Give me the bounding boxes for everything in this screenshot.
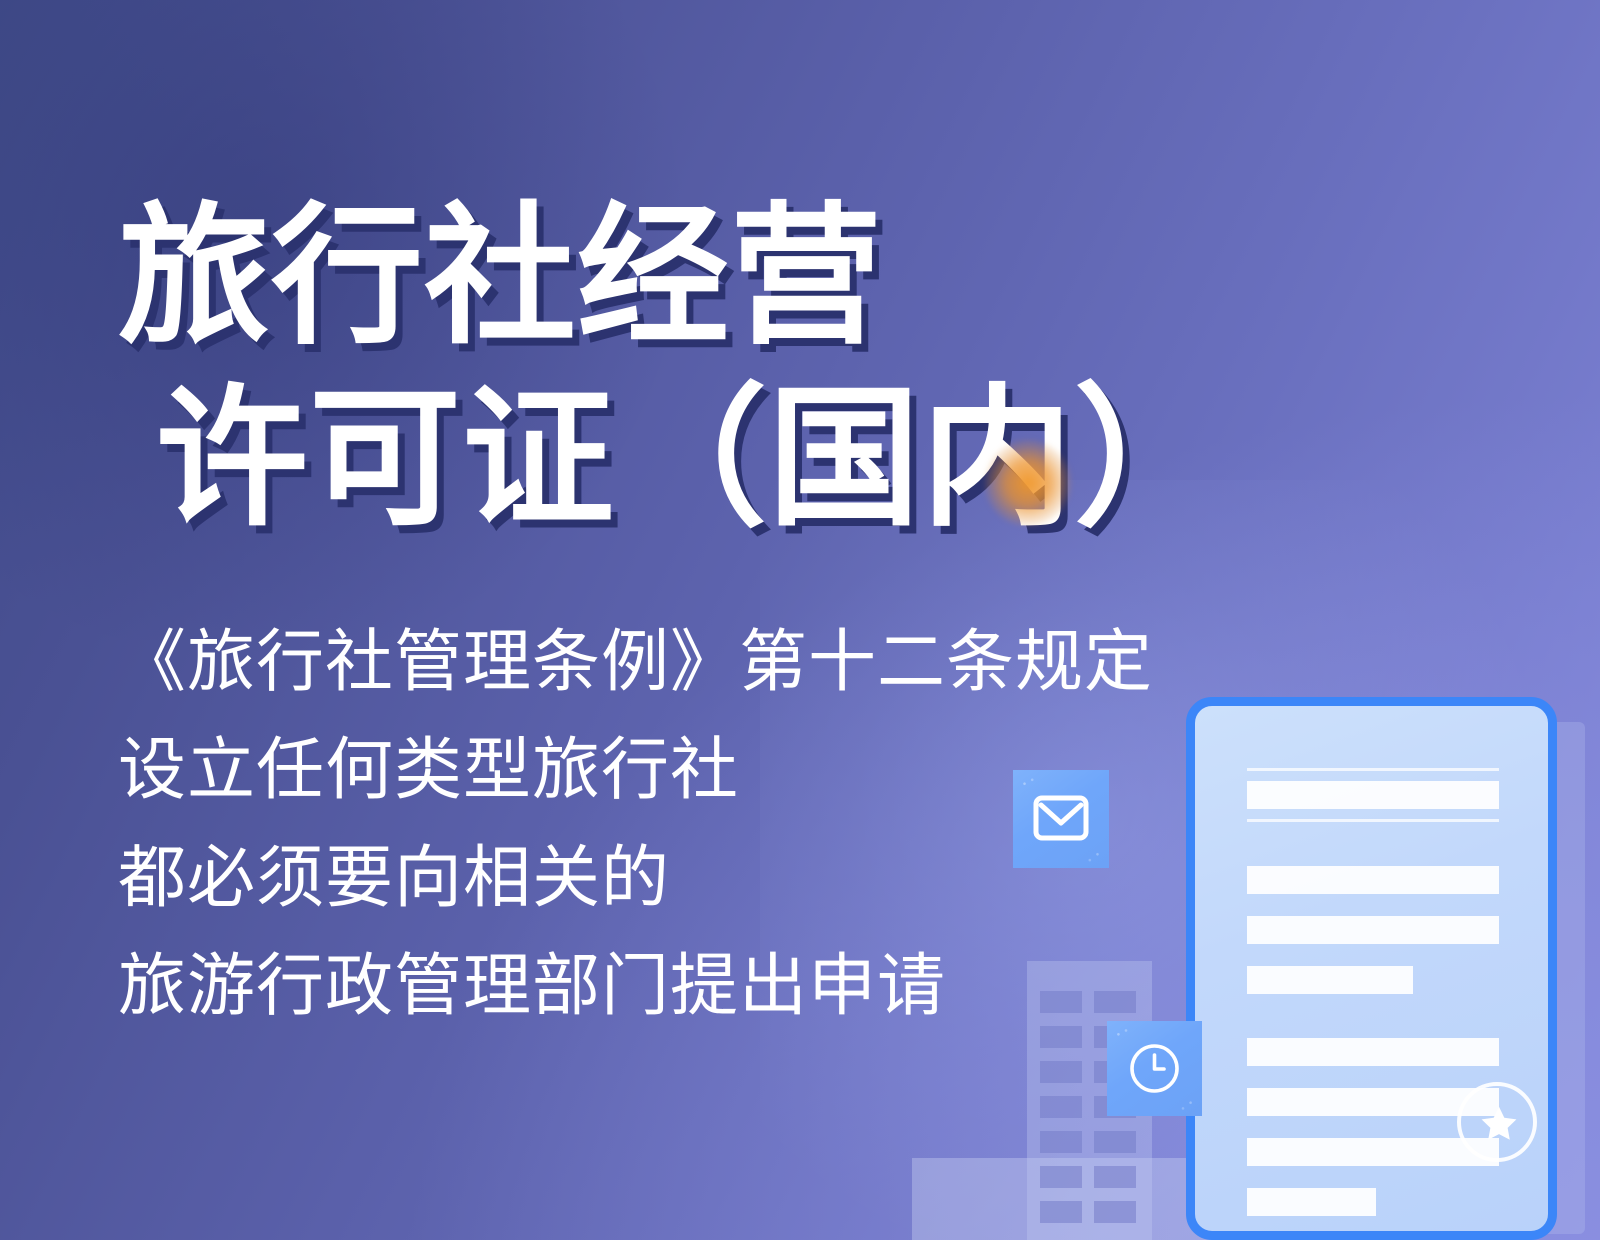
document-line: [1247, 866, 1499, 894]
building-window: [1094, 1201, 1136, 1223]
document-line: [1247, 1138, 1499, 1166]
building-window: [1094, 1166, 1136, 1188]
poster-body: 《旅行社管理条例》第十二条规定 设立任何类型旅行社 都必须要向相关的 旅游行政管…: [118, 608, 1198, 1040]
building-window: [1040, 1201, 1082, 1223]
document-line: [1247, 966, 1413, 994]
building-window: [1040, 1061, 1082, 1083]
document-text-lines: [1247, 768, 1499, 1226]
poster-title: 旅行社经营 许可证（国内）: [118, 186, 1238, 550]
document-line: [1247, 768, 1499, 771]
building-window: [1040, 1096, 1082, 1118]
title-line-2: 许可证（国内）: [156, 368, 1238, 550]
body-line-2: 设立任何类型旅行社: [118, 716, 1198, 824]
body-line-4: 旅游行政管理部门提出申请: [118, 932, 1198, 1040]
document-line: [1247, 781, 1499, 809]
document-line: [1247, 1188, 1376, 1216]
document-line: [1247, 1088, 1499, 1116]
document-line: [1247, 916, 1499, 944]
title-line-1: 旅行社经营: [118, 186, 1238, 368]
star-seal-icon: [1457, 1082, 1537, 1162]
building-window: [1094, 1061, 1136, 1083]
building-window: [1094, 1131, 1136, 1153]
building-window: [1094, 1096, 1136, 1118]
building-podium: [912, 1158, 1212, 1240]
building-window: [1040, 1131, 1082, 1153]
document-card: [1186, 697, 1557, 1240]
document-line: [1247, 819, 1499, 822]
clock-icon: [1128, 1042, 1181, 1100]
document-line: [1247, 1038, 1499, 1066]
building-window: [1040, 1166, 1082, 1188]
document-card-shadow: [1215, 722, 1585, 1234]
body-line-1: 《旅行社管理条例》第十二条规定: [118, 608, 1198, 716]
poster-canvas: 旅行社经营 许可证（国内） 《旅行社管理条例》第十二条规定 设立任何类型旅行社 …: [0, 0, 1600, 1240]
body-line-3: 都必须要向相关的: [118, 824, 1198, 932]
